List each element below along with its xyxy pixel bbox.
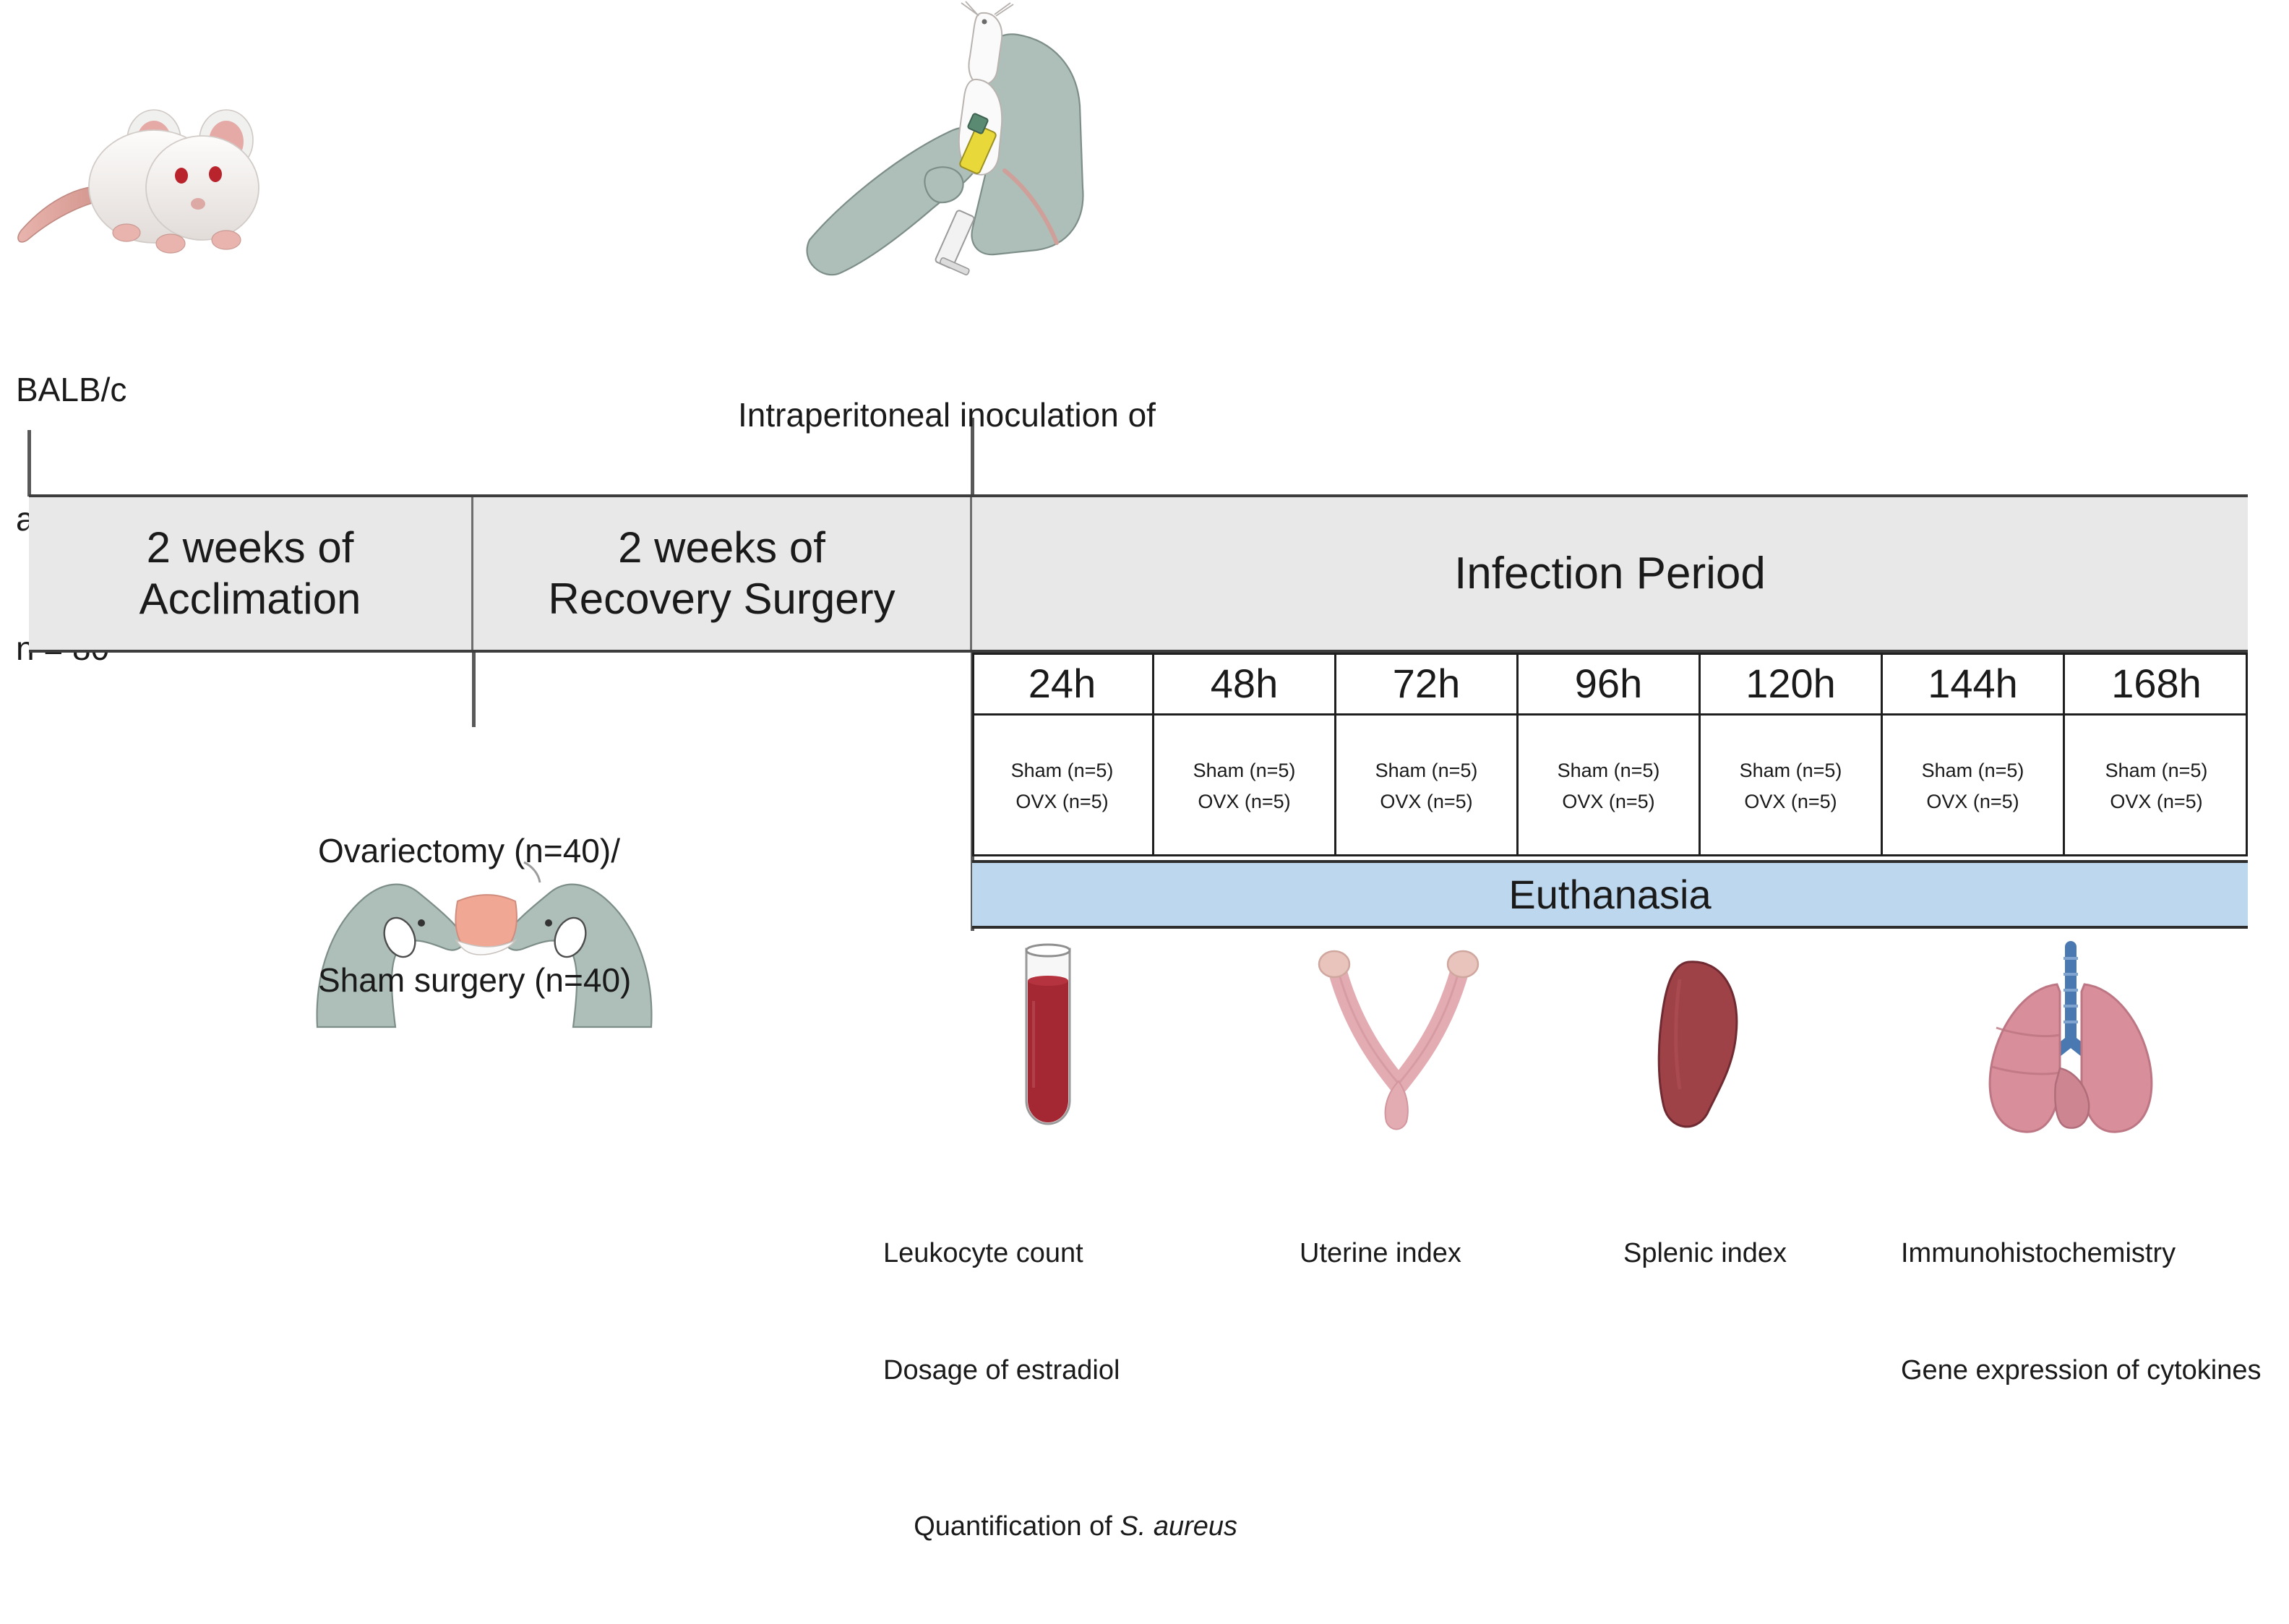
timepoint-header: 96h: [1519, 653, 1699, 716]
mouse-illustration: [6, 72, 288, 282]
timepoint-table: 24h Sham (n=5) OVX (n=5) 48h Sham (n=5) …: [972, 653, 2248, 856]
spleen-icon: [1648, 950, 1756, 1135]
outcome-line: Gene expression of cytokines: [1901, 1352, 2262, 1391]
outcome-label-lungs: Immunohistochemistry Gene expression of …: [1901, 1156, 2262, 1430]
species-name-italic: S. aureus: [1120, 1511, 1237, 1542]
strain-label: BALB/c: [16, 369, 231, 412]
timepoint-column: 168h Sham (n=5) OVX (n=5): [2065, 653, 2248, 856]
outcome-label-uterus: Uterine index: [1300, 1156, 1461, 1312]
inoculation-line-1: Intraperitoneal inoculation of: [683, 394, 1211, 437]
group-sham: Sham (n=5): [1922, 755, 2024, 786]
group-sham: Sham (n=5): [1558, 755, 1660, 786]
timepoint-groups: Sham (n=5) OVX (n=5): [1336, 716, 1516, 856]
group-ovx: OVX (n=5): [1926, 786, 2019, 817]
group-ovx: OVX (n=5): [1562, 786, 1654, 817]
timepoint-groups: Sham (n=5) OVX (n=5): [972, 716, 1152, 856]
timepoint-column: 144h Sham (n=5) OVX (n=5): [1883, 653, 2065, 856]
group-sham: Sham (n=5): [1193, 755, 1296, 786]
period-recovery-line-2: Recovery Surgery: [548, 574, 895, 625]
blood-tube-icon: [1005, 943, 1091, 1138]
group-ovx: OVX (n=5): [1380, 786, 1472, 817]
timepoint-column: 48h Sham (n=5) OVX (n=5): [1154, 653, 1336, 856]
timepoint-column: 120h Sham (n=5) OVX (n=5): [1701, 653, 1883, 856]
timepoint-column: 72h Sham (n=5) OVX (n=5): [1336, 653, 1519, 856]
group-ovx: OVX (n=5): [1744, 786, 1837, 817]
outcome-line: Leukocyte count: [883, 1234, 1237, 1273]
timepoint-groups: Sham (n=5) OVX (n=5): [1154, 716, 1334, 856]
group-sham: Sham (n=5): [2105, 755, 2208, 786]
period-recovery-line-1: 2 weeks of: [548, 523, 895, 574]
timepoint-header: 144h: [1883, 653, 2063, 716]
outcome-line: Uterine index: [1300, 1234, 1461, 1273]
timepoint-column: 96h Sham (n=5) OVX (n=5): [1519, 653, 1701, 856]
period-acclimation: 2 weeks of Acclimation: [29, 497, 473, 650]
timepoint-header: 120h: [1701, 653, 1881, 716]
period-acclimation-line-2: Acclimation: [139, 574, 361, 625]
group-ovx: OVX (n=5): [1198, 786, 1290, 817]
timepoint-column: 24h Sham (n=5) OVX (n=5): [972, 653, 1154, 856]
group-sham: Sham (n=5): [1011, 755, 1114, 786]
outcome-line: Immunohistochemistry: [1901, 1234, 2262, 1273]
group-sham: Sham (n=5): [1375, 755, 1478, 786]
timepoint-header: 168h: [2065, 653, 2248, 716]
euthanasia-label: Euthanasia: [1508, 871, 1711, 918]
period-infection-line-1: Infection Period: [1454, 547, 1766, 600]
injection-illustration: [788, 0, 1106, 289]
group-sham: Sham (n=5): [1740, 755, 1842, 786]
period-infection: Infection Period: [972, 497, 2248, 650]
timepoint-groups: Sham (n=5) OVX (n=5): [1883, 716, 2063, 856]
timepoint-groups: Sham (n=5) OVX (n=5): [1701, 716, 1881, 856]
surgery-label: Ovariectomy (n=40)/ Sham surgery (n=40): [318, 743, 631, 1046]
surgery-line-2: Sham surgery (n=40): [318, 959, 631, 1002]
group-ovx: OVX (n=5): [1015, 786, 1108, 817]
timepoint-header: 72h: [1336, 653, 1516, 716]
timepoint-groups: Sham (n=5) OVX (n=5): [2065, 716, 2248, 856]
uterus-icon: [1315, 940, 1482, 1138]
outcome-line: Dosage of estradiol: [883, 1352, 1237, 1391]
study-period-bar: 2 weeks of Acclimation 2 weeks of Recove…: [29, 494, 2248, 653]
euthanasia-band: Euthanasia: [972, 860, 2248, 929]
period-recovery: 2 weeks of Recovery Surgery: [473, 497, 972, 650]
outcome-line: Splenic index: [1623, 1234, 1787, 1273]
timepoint-header: 48h: [1154, 653, 1334, 716]
outcome-label-blood: Leukocyte count Dosage of estradiol Quan…: [883, 1156, 1237, 1624]
outcome-label-spleen: Splenic index: [1623, 1156, 1787, 1312]
period-acclimation-line-1: 2 weeks of: [139, 523, 361, 574]
outcome-line-italic: Quantification of S. aureus: [883, 1469, 1237, 1586]
timepoint-header: 24h: [972, 653, 1152, 716]
lungs-icon: [1959, 940, 2183, 1142]
timepoint-groups: Sham (n=5) OVX (n=5): [1519, 716, 1699, 856]
group-ovx: OVX (n=5): [2110, 786, 2202, 817]
outcome-line-prefix: Quantification of: [914, 1511, 1120, 1542]
surgery-line-1: Ovariectomy (n=40)/: [318, 830, 631, 873]
